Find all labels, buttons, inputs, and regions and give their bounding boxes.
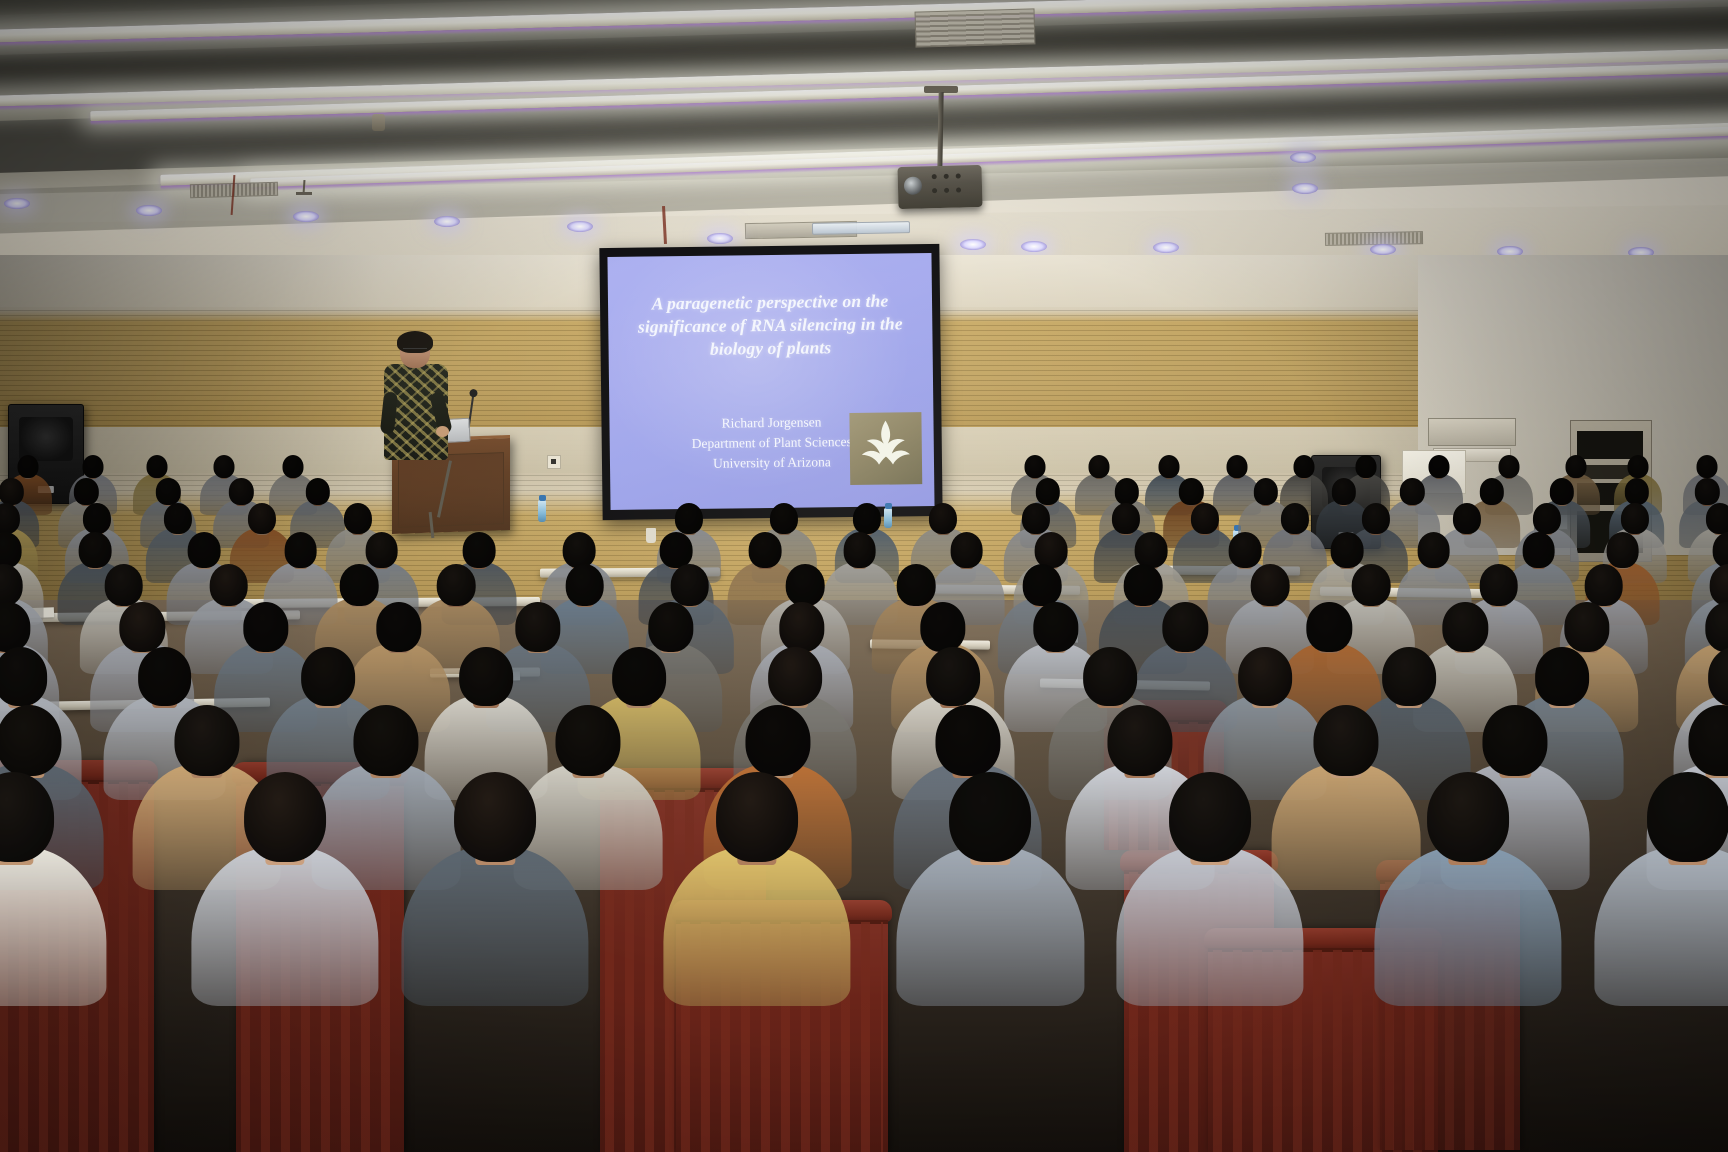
projector-vent-hole bbox=[944, 188, 949, 193]
audience-member-head bbox=[1522, 532, 1555, 568]
audience-member-shoulders bbox=[897, 846, 1084, 1006]
audience-member-head bbox=[786, 564, 825, 606]
downlight bbox=[434, 216, 460, 227]
audience-member-head bbox=[1621, 503, 1649, 534]
audience-member-head bbox=[515, 602, 560, 652]
audience-member-head bbox=[1313, 705, 1378, 776]
audience-member-head bbox=[1331, 532, 1364, 568]
audience-member-head bbox=[74, 478, 98, 505]
audience-member-head bbox=[1533, 503, 1561, 534]
audience-member-head bbox=[79, 532, 112, 568]
audience-member-head bbox=[0, 647, 47, 706]
audience-member-head bbox=[1479, 564, 1518, 606]
audience-member-head bbox=[660, 532, 693, 568]
audience-member-head bbox=[306, 478, 330, 505]
ceiling-vent bbox=[1325, 231, 1423, 246]
downlight bbox=[136, 205, 162, 216]
audience-member-head bbox=[301, 647, 355, 706]
audience-member-head bbox=[1564, 602, 1609, 652]
audience-member-head bbox=[1706, 503, 1728, 534]
audience-member-head bbox=[1254, 478, 1278, 505]
downlight bbox=[1021, 241, 1047, 252]
wall-socket-plate bbox=[547, 455, 561, 469]
audience-member-head bbox=[950, 532, 983, 568]
audience-member-head bbox=[1023, 564, 1062, 606]
audience-member-head bbox=[244, 772, 326, 862]
downlight bbox=[293, 211, 319, 222]
audience-member-head bbox=[156, 478, 180, 505]
projector-vent-hole bbox=[956, 187, 961, 192]
audience-member bbox=[191, 772, 378, 1022]
audience-member-head bbox=[1163, 602, 1208, 652]
audience-member-head bbox=[138, 647, 192, 706]
audience-member-head bbox=[340, 564, 379, 606]
audience-member-head bbox=[83, 455, 104, 478]
audience-member-head bbox=[1382, 647, 1436, 706]
audience-member-head bbox=[1025, 455, 1046, 478]
audience-member-shoulders bbox=[1374, 846, 1561, 1006]
audience-member-head bbox=[1480, 478, 1504, 505]
projector-vent-hole bbox=[944, 174, 949, 179]
audience-member-head bbox=[648, 602, 693, 652]
audience-member-head bbox=[1088, 455, 1109, 478]
audience-member-head bbox=[1352, 564, 1391, 606]
audience-member-head bbox=[1169, 772, 1251, 862]
audience-member-head bbox=[1035, 532, 1068, 568]
audience-member-head bbox=[0, 772, 54, 862]
projector-vent-hole bbox=[932, 174, 937, 179]
audience-member-head bbox=[1294, 455, 1315, 478]
projector-vent-hole bbox=[956, 173, 961, 178]
downlight bbox=[707, 233, 733, 244]
audience-member-head bbox=[1606, 532, 1639, 568]
audience-member bbox=[664, 772, 851, 1022]
presenter-hand bbox=[436, 426, 449, 437]
audience-member-head bbox=[929, 503, 957, 534]
audience-member-head bbox=[1361, 503, 1389, 534]
audience-member bbox=[1374, 772, 1561, 1022]
audience-member-head bbox=[1566, 455, 1587, 478]
downlight bbox=[1370, 244, 1396, 255]
audience-member-head bbox=[282, 455, 303, 478]
audience-member-head bbox=[920, 602, 965, 652]
audience-member-head bbox=[843, 532, 876, 568]
audience-member-head bbox=[209, 564, 248, 606]
audience-member-head bbox=[1697, 455, 1718, 478]
audience-member-head bbox=[1115, 478, 1139, 505]
audience-member-head bbox=[174, 705, 239, 776]
presenter bbox=[384, 334, 448, 474]
audience-member-shoulders bbox=[664, 846, 851, 1006]
audience-member-head bbox=[1483, 705, 1548, 776]
audience-member bbox=[1116, 772, 1303, 1022]
ceiling-projector bbox=[897, 165, 982, 209]
audience-member-head bbox=[459, 647, 513, 706]
audience-member-head bbox=[1124, 564, 1163, 606]
audience-member-head bbox=[437, 564, 476, 606]
audience-member-head bbox=[463, 532, 496, 568]
audience-member-head bbox=[1688, 705, 1728, 776]
audience-member-head bbox=[1251, 564, 1290, 606]
audience-member-head bbox=[354, 705, 419, 776]
audience-member-head bbox=[1585, 564, 1624, 606]
audience-member bbox=[402, 772, 589, 1022]
audience-member-head bbox=[454, 772, 536, 862]
audience-member-head bbox=[949, 772, 1031, 862]
audience-member-head bbox=[243, 602, 288, 652]
audience-member-head bbox=[935, 705, 1000, 776]
presenter-glasses bbox=[403, 348, 427, 354]
audience-member-head bbox=[745, 705, 810, 776]
projector-lens bbox=[904, 176, 922, 194]
audience-member-head bbox=[120, 602, 165, 652]
audience-member-head bbox=[1022, 503, 1050, 534]
audience-member-head bbox=[376, 602, 421, 652]
audience-member-head bbox=[1135, 532, 1168, 568]
downlight bbox=[4, 198, 30, 209]
audience-member-head bbox=[188, 532, 221, 568]
audience-member-shoulders bbox=[1116, 846, 1303, 1006]
audience-member-head bbox=[1229, 532, 1262, 568]
audience-member-head bbox=[770, 503, 798, 534]
audience-member-head bbox=[1033, 602, 1078, 652]
water-bottle bbox=[538, 500, 546, 522]
audience-member-head bbox=[284, 532, 317, 568]
audience-member-head bbox=[1400, 478, 1424, 505]
audience-member-head bbox=[612, 647, 666, 706]
audience-member-shoulders bbox=[402, 846, 589, 1006]
audience-member-head bbox=[214, 455, 235, 478]
downlight bbox=[1290, 152, 1316, 163]
downlight bbox=[1153, 242, 1179, 253]
audience-member-head bbox=[853, 503, 881, 534]
audience-member-head bbox=[927, 647, 981, 706]
audience-member-head bbox=[1624, 478, 1648, 505]
audience-member-shoulders bbox=[0, 846, 107, 1006]
audience-member-head bbox=[1443, 602, 1488, 652]
downlight bbox=[960, 239, 986, 250]
audience-member-head bbox=[229, 478, 253, 505]
audience-member-head bbox=[897, 564, 936, 606]
audience-member-head bbox=[17, 455, 38, 478]
audience-member-head bbox=[248, 503, 276, 534]
audience-member-shoulders bbox=[1594, 846, 1728, 1006]
projection-screen-frame: A paragenetic perspective on the signifi… bbox=[599, 244, 942, 520]
audience-member-head bbox=[1191, 503, 1219, 534]
audience-member-head bbox=[1036, 478, 1060, 505]
audience-member-head bbox=[768, 647, 822, 706]
audience-member-head bbox=[1428, 455, 1449, 478]
audience-member-head bbox=[779, 602, 824, 652]
audience-member-head bbox=[563, 532, 596, 568]
audience-member-head bbox=[83, 503, 111, 534]
projection-screen: A paragenetic perspective on the signifi… bbox=[607, 253, 934, 510]
downlight bbox=[1292, 183, 1318, 194]
audience-member-head bbox=[344, 503, 372, 534]
audience-member-head bbox=[1499, 455, 1520, 478]
ceiling-vent bbox=[915, 8, 1036, 47]
audience-member-head bbox=[1695, 478, 1719, 505]
audience-member bbox=[897, 772, 1084, 1022]
ceiling bbox=[0, 0, 1728, 265]
audience-member-head bbox=[1226, 455, 1247, 478]
wall-mounted-device bbox=[1428, 418, 1516, 446]
audience-member-shoulders bbox=[191, 846, 378, 1006]
audience-member-head bbox=[1281, 503, 1309, 534]
audience-member-head bbox=[1179, 478, 1203, 505]
lecture-hall-photo: A paragenetic perspective on the signifi… bbox=[0, 0, 1728, 1152]
audience-member-head bbox=[1417, 532, 1450, 568]
slide-title-line-1: A paragenetic perspective on bbox=[652, 291, 862, 314]
audience-member-head bbox=[1453, 503, 1481, 534]
audience-member-head bbox=[565, 564, 604, 606]
audience-member-head bbox=[0, 705, 61, 776]
audience-member-head bbox=[716, 772, 798, 862]
audience-member-head bbox=[1708, 647, 1728, 706]
audience-member-head bbox=[1107, 705, 1172, 776]
audience-member bbox=[1594, 772, 1728, 1022]
audience-member-head bbox=[1627, 455, 1648, 478]
audience-member-head bbox=[670, 564, 709, 606]
audience-member-head bbox=[1355, 455, 1376, 478]
audience-member-head bbox=[749, 532, 782, 568]
audience-member-head bbox=[556, 705, 621, 776]
downlight bbox=[567, 221, 593, 232]
audience-member-head bbox=[675, 503, 703, 534]
audience-member-head bbox=[164, 503, 192, 534]
audience-member-head bbox=[1427, 772, 1509, 862]
audience-member-head bbox=[1238, 647, 1292, 706]
audience-member-head bbox=[1083, 647, 1137, 706]
sprinkler-head bbox=[296, 192, 312, 195]
ceiling-diffuser bbox=[812, 221, 910, 235]
audience-member-head bbox=[1331, 478, 1355, 505]
audience-member-head bbox=[0, 478, 23, 505]
audience-member-head bbox=[1550, 478, 1574, 505]
audience-member-head bbox=[1307, 602, 1352, 652]
audience-member bbox=[0, 772, 107, 1022]
audience-member-head bbox=[365, 532, 398, 568]
audience-member-head bbox=[0, 532, 22, 568]
audience-member-head bbox=[104, 564, 143, 606]
ceiling-sensor bbox=[372, 114, 385, 131]
audience-member-head bbox=[147, 455, 168, 478]
slide-title: A paragenetic perspective on the signifi… bbox=[614, 289, 927, 361]
audience-member-head bbox=[1112, 503, 1140, 534]
projector-vent-hole bbox=[932, 188, 937, 193]
audience-member-head bbox=[1647, 772, 1728, 862]
audience-member-head bbox=[1535, 647, 1589, 706]
audience-member-head bbox=[1158, 455, 1179, 478]
petunia-flower-logo bbox=[849, 412, 922, 485]
